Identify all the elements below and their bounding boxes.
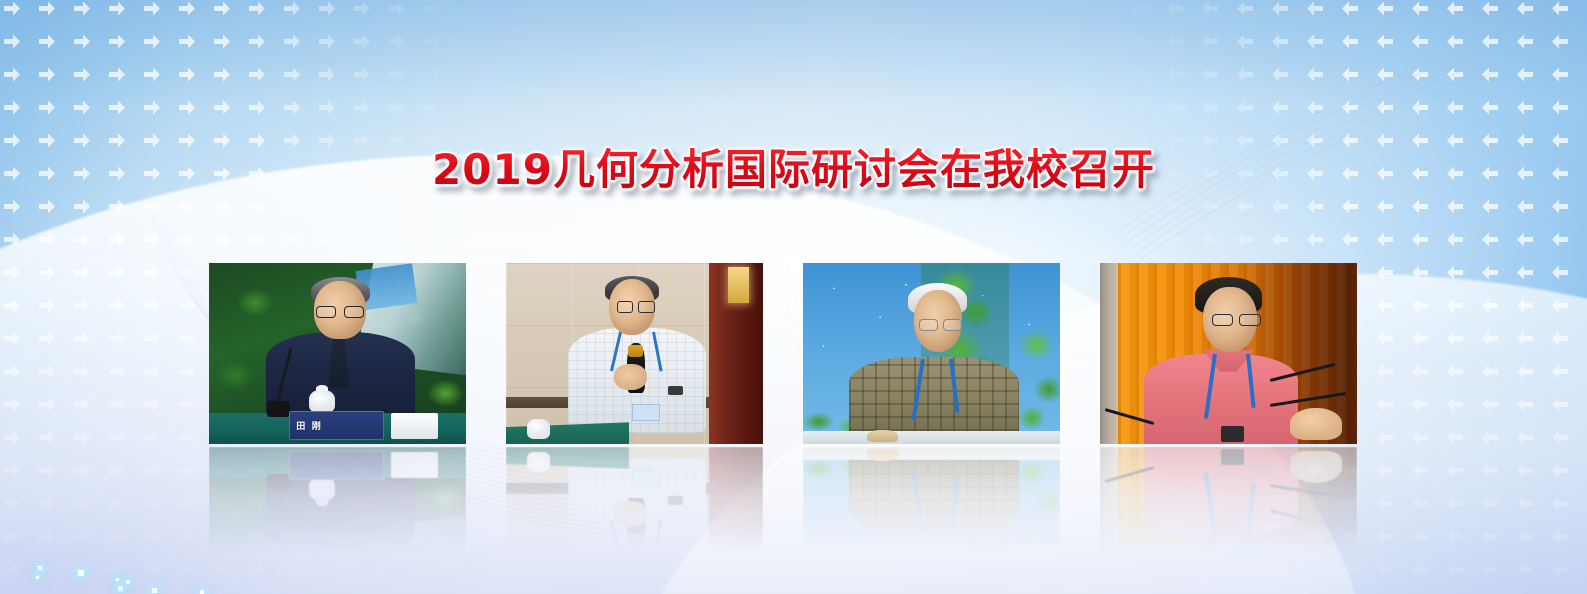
nameplate-label: 田 刚	[296, 419, 323, 432]
banner-title-container: 2019几何分析国际研讨会在我校召开	[0, 120, 1587, 220]
sparkle-particle	[116, 578, 119, 581]
wall-light	[728, 267, 749, 303]
paper-sheet	[391, 413, 437, 438]
gallery-photo-3-reflection	[803, 447, 1060, 567]
gallery-photo-3[interactable]	[803, 263, 1060, 444]
glasses-icon	[316, 306, 365, 319]
photo-gallery: 田 刚	[209, 263, 1354, 444]
photo-3-scene	[803, 263, 1060, 444]
sparkle-particle	[78, 570, 84, 576]
badge	[632, 404, 660, 420]
sparkle-particle	[126, 580, 130, 584]
glasses-icon	[919, 319, 963, 331]
page-title: 2019几何分析国际研讨会在我校召开	[432, 148, 1155, 192]
badge	[1221, 426, 1244, 442]
mural-tree-right	[1014, 314, 1060, 444]
wall-edge	[1100, 263, 1118, 444]
wristwatch	[668, 386, 683, 395]
conference-table	[803, 431, 1060, 444]
gallery-photo-2[interactable]	[506, 263, 763, 444]
nameplate: 田 刚	[289, 411, 384, 440]
photo-1-scene: 田 刚	[209, 263, 466, 444]
sparkle-particle	[36, 576, 39, 579]
sparkle-particle	[38, 566, 42, 570]
gallery-photo-2-reflection	[506, 447, 763, 567]
photo-2-scene	[506, 263, 763, 444]
photo-4-scene	[1100, 263, 1357, 444]
plate-item	[867, 430, 898, 443]
teacup	[527, 419, 550, 439]
sparkle-particle	[118, 586, 123, 591]
event-banner: 2019几何分析国际研讨会在我校召开 田 刚	[0, 0, 1587, 594]
gallery-photo-4-reflection	[1100, 447, 1357, 567]
glasses-icon	[1212, 314, 1261, 327]
teacup	[309, 390, 335, 414]
gallery-photo-1[interactable]: 田 刚	[209, 263, 466, 444]
microphone-base	[267, 401, 290, 417]
sparkle-particle	[152, 588, 157, 593]
glasses-icon	[617, 301, 656, 313]
photo-gallery-reflections	[209, 447, 1354, 567]
speaker-hand	[1290, 408, 1341, 441]
sparkle-particle	[200, 590, 204, 594]
gallery-photo-4[interactable]	[1100, 263, 1357, 444]
gallery-photo-1-reflection	[209, 447, 466, 567]
speaker-hand	[614, 364, 647, 389]
